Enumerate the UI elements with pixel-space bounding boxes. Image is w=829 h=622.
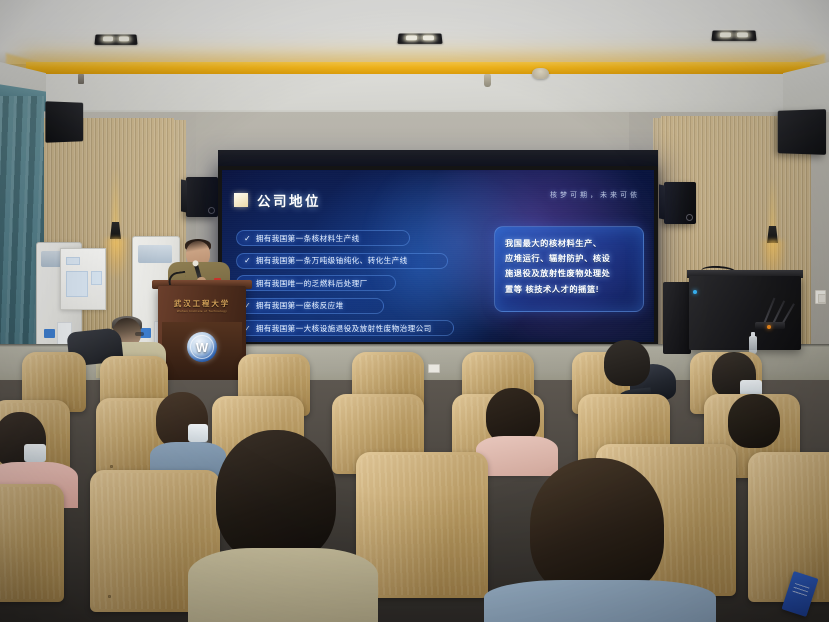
sconce-uplight-glow bbox=[770, 176, 775, 234]
audience-shoulders-foreground bbox=[188, 548, 378, 622]
slide-bullet-list: ✓ 拥有我国第一条核材料生产线 ✓ 拥有我国第一条万吨级铀纯化、转化生产线 ✓ … bbox=[236, 230, 472, 342]
audience-shoulders-foreground bbox=[484, 580, 716, 622]
slide-callout-box: 我国最大的核材料生产、 应堆运行、辐射防护、核设 施退役及放射性废物处理处 置等… bbox=[494, 226, 644, 312]
status-led bbox=[767, 325, 771, 329]
notice-sheet bbox=[91, 271, 102, 285]
sconce-downlight-glow bbox=[103, 238, 129, 278]
bullet-text: 拥有我国第一大核设施退役及放射性废物治理公司 bbox=[256, 323, 432, 334]
smoke-detector-icon bbox=[532, 68, 549, 79]
list-item: ✓ 拥有我国第一座核反应堆 bbox=[236, 298, 384, 314]
list-item: ✓ 拥有我国第一大核设施退役及放射性废物治理公司 bbox=[236, 320, 454, 336]
status-led bbox=[693, 290, 697, 294]
av-equipment-rack bbox=[689, 276, 801, 350]
slide-title-group: 公司地位 bbox=[234, 190, 321, 210]
logo-letter: W bbox=[196, 340, 208, 355]
corner-monitor-left bbox=[45, 101, 83, 143]
wall-notice-board bbox=[60, 248, 106, 310]
presentation-screen: 公司地位 核梦可期，未来可依 ✓ 拥有我国第一条核材料生产线 ✓ 拥有我国第一条… bbox=[222, 170, 654, 342]
audience-shoulders bbox=[476, 436, 558, 476]
notice-sheet bbox=[66, 257, 80, 265]
speaker-side bbox=[181, 179, 187, 212]
face-mask bbox=[188, 424, 208, 442]
ceiling-upper bbox=[0, 0, 829, 64]
ac-badge bbox=[44, 329, 55, 338]
wall-speaker-right bbox=[664, 182, 696, 224]
auditorium-photo: 公司地位 核梦可期，未来可依 ✓ 拥有我国第一条核材料生产线 ✓ 拥有我国第一条… bbox=[0, 0, 829, 622]
wall-outlet[interactable] bbox=[428, 364, 440, 373]
audience-head-foreground bbox=[530, 458, 664, 598]
spotlight-icon bbox=[711, 30, 756, 40]
bullet-text: 拥有我国第一座核反应堆 bbox=[256, 300, 344, 311]
sprinkler-head bbox=[484, 74, 491, 87]
bullet-text: 拥有我国第一条核材料生产线 bbox=[256, 233, 360, 244]
face-mask bbox=[24, 444, 46, 462]
check-icon: ✓ bbox=[244, 256, 251, 265]
callout-line: 施退役及放射性废物处理处 bbox=[505, 266, 634, 281]
slide-title: 公司地位 bbox=[257, 190, 321, 210]
callout-line: 置等 核技术人才的摇篮! bbox=[505, 282, 634, 297]
podium-university-name: 武汉工程大学 Wuhan Institute of Technology bbox=[166, 298, 238, 313]
list-item: ✓ 拥有我国第一条万吨级铀纯化、转化生产线 bbox=[236, 253, 448, 269]
university-logo: W bbox=[187, 332, 217, 362]
podium-university-name-en: Wuhan Institute of Technology bbox=[166, 309, 238, 313]
list-item: ✓ 拥有我国唯一的乏燃料后处理厂 bbox=[236, 275, 396, 291]
speaker-side bbox=[659, 184, 665, 219]
seat-wood-back bbox=[0, 484, 64, 602]
bullet-text: 拥有我国唯一的乏燃料后处理厂 bbox=[256, 278, 368, 289]
sconce-uplight-glow bbox=[113, 167, 118, 225]
eyeglasses bbox=[135, 332, 144, 336]
audience-head-foreground bbox=[216, 430, 336, 562]
ac-display bbox=[138, 245, 172, 263]
spotlight-icon bbox=[397, 33, 442, 43]
spotlight-icon bbox=[94, 34, 137, 44]
light-switch[interactable] bbox=[815, 290, 826, 304]
notice-sheet bbox=[66, 271, 88, 297]
title-square-icon bbox=[234, 193, 248, 207]
sprinkler-head bbox=[78, 74, 84, 84]
bullet-text: 拥有我国第一条万吨级铀纯化、转化生产线 bbox=[256, 255, 408, 266]
callout-line: 应堆运行、辐射防护、核设 bbox=[505, 251, 634, 266]
auditorium-seat[interactable] bbox=[0, 484, 64, 602]
corner-monitor bbox=[778, 109, 826, 155]
slide-tagline: 核梦可期，未来可依 bbox=[550, 190, 640, 200]
list-item: ✓ 拥有我国第一条核材料生产线 bbox=[236, 230, 410, 246]
check-icon: ✓ bbox=[244, 234, 251, 243]
wall-speaker-left bbox=[186, 177, 218, 217]
audience-head bbox=[728, 394, 780, 448]
audience-head bbox=[604, 340, 650, 386]
floor-speaker bbox=[663, 282, 691, 354]
callout-line: 我国最大的核材料生产、 bbox=[505, 236, 634, 251]
